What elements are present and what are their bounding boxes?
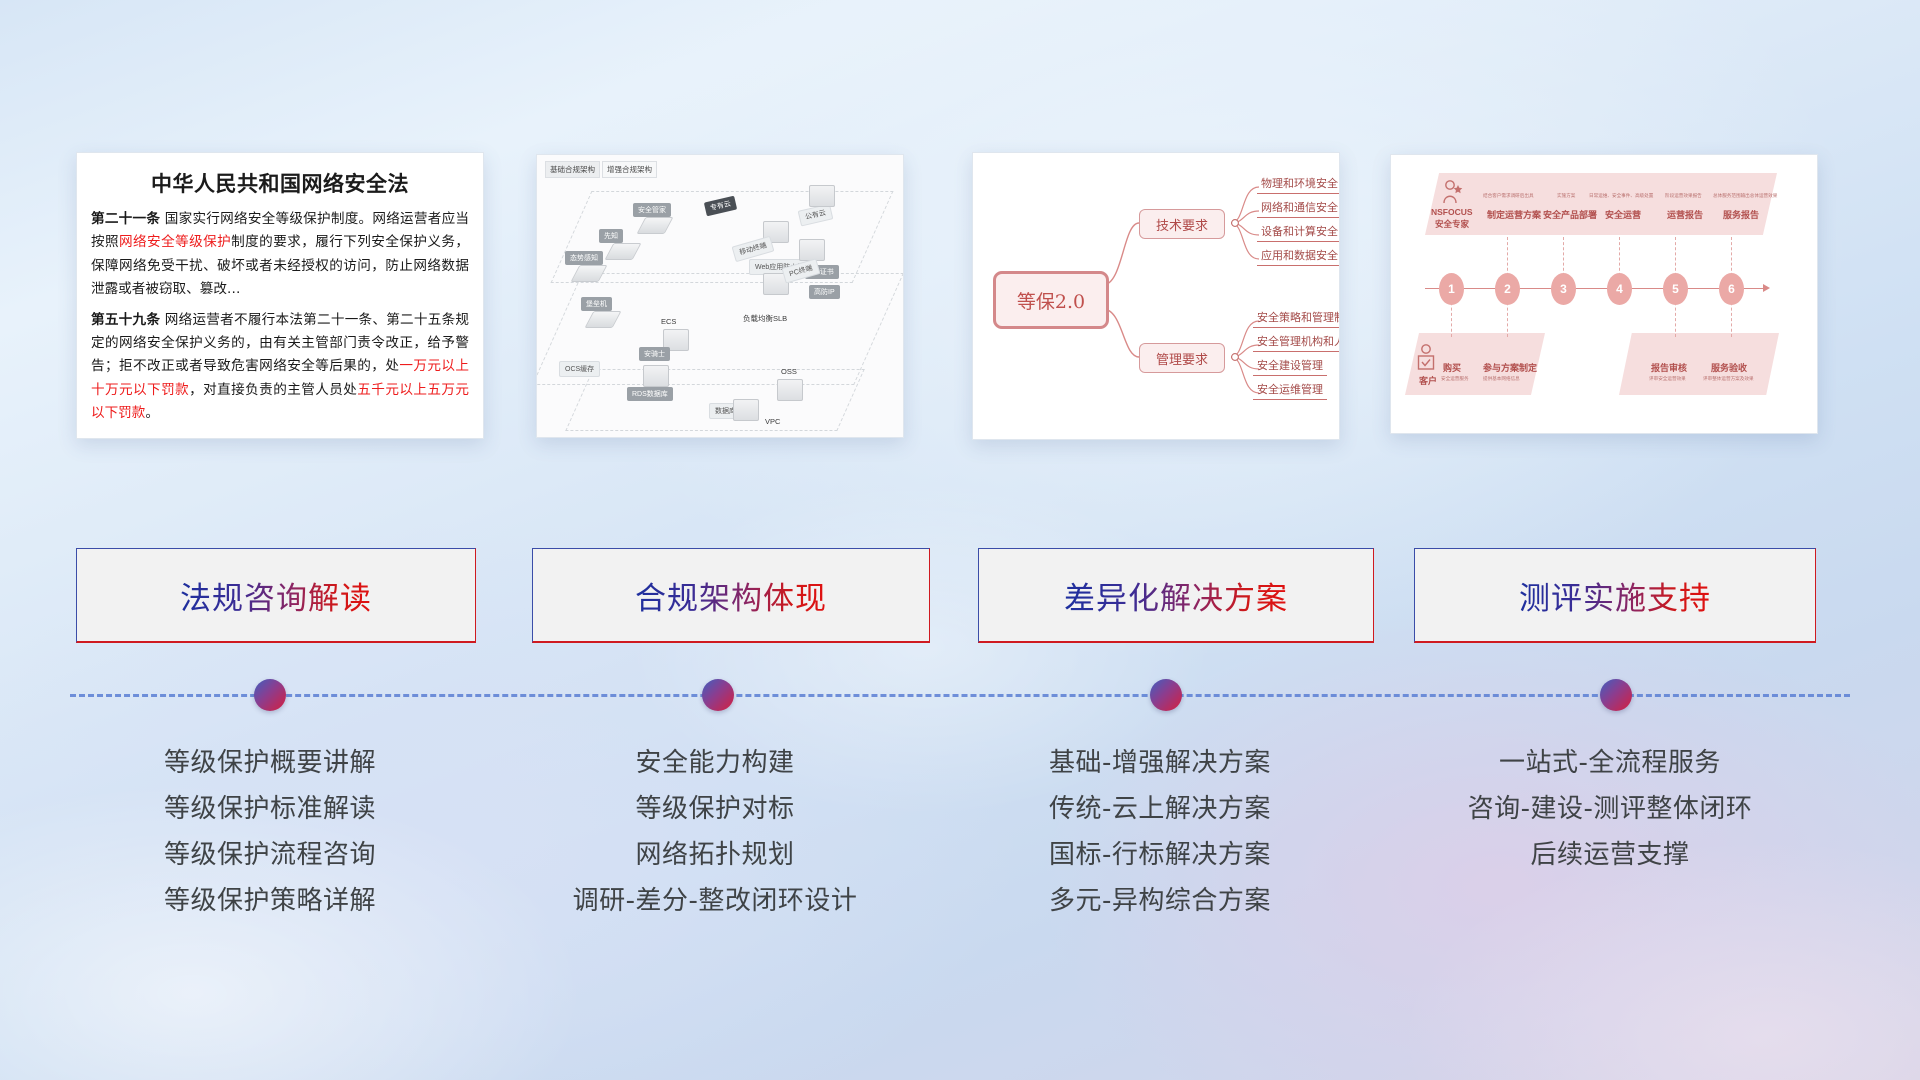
- axis-step-6: 6: [1719, 273, 1744, 305]
- bottom-step-1-desc: 安全运营服务: [1441, 376, 1469, 382]
- bottom-step-1-title: 购买: [1443, 361, 1461, 374]
- node-xianzhi: 先知: [599, 229, 623, 243]
- axis-step-2: 2: [1495, 273, 1520, 305]
- bottom-step-2-desc: 提供基本网络信息: [1483, 376, 1520, 382]
- service-column-2: 安全能力构建 等级保护对标 网络拓扑规划 调研-差分-整改闭环设计: [495, 740, 935, 924]
- bottom-step-5-title: 报告审核: [1651, 361, 1687, 374]
- timeline-arrow-icon: [1763, 284, 1770, 292]
- mindmap-root: 等保2.0: [993, 271, 1109, 329]
- mindmap-leaf-org-personnel: 安全管理机构和人员: [1253, 333, 1340, 352]
- list-item: 等级保护概要讲解: [50, 740, 490, 786]
- article-59-text-3: 。: [145, 405, 159, 421]
- expert-person-icon: [1439, 179, 1465, 205]
- card-cybersecurity-law[interactable]: 中华人民共和国网络安全法 第二十一条 国家实行网络安全等级保护制度。网络运营者应…: [76, 152, 484, 439]
- node-rds: RDS数据库: [627, 387, 673, 401]
- timeline-node-1[interactable]: [254, 679, 286, 711]
- section-title-box-4[interactable]: 测评实施支持: [1414, 548, 1816, 643]
- bottom-step-6-desc: 评审整体运营方案及效果: [1703, 376, 1754, 382]
- mindmap-leaf-operation-mgmt: 安全运维管理: [1253, 381, 1327, 400]
- article-59-text-2: ，对直接负责的主管人员处: [189, 382, 357, 398]
- customer-person-icon: [1415, 343, 1439, 373]
- icon-rds-box: [643, 365, 669, 387]
- architecture-diagram: 基础合规架构 增强合规架构 专有云 公有云 安全管家 先知 态势感知 堡垒机 E…: [537, 155, 903, 437]
- top-step-6-desc: 总体服务范围输出总体运营效果: [1713, 193, 1777, 199]
- list-item: 咨询-建设-测评整体闭环: [1390, 786, 1830, 832]
- mindmap-leaf-physical-env: 物理和环境安全: [1257, 175, 1340, 194]
- section-title-3: 差异化解决方案: [1064, 573, 1288, 618]
- node-slb: 负载均衡SLB: [743, 313, 787, 324]
- top-step-3-title: 安全产品部署: [1543, 208, 1597, 221]
- section-title-4: 测评实施支持: [1519, 573, 1711, 618]
- icon-cloud-server: [809, 185, 835, 207]
- service-column-4: 一站式-全流程服务 咨询-建设-测评整体闭环 后续运营支撑: [1390, 740, 1830, 878]
- icon-pc-terminal: [799, 239, 825, 261]
- node-ocs-cache: OCS缓存: [559, 361, 600, 377]
- top-step-3-desc: 实施方案: [1557, 193, 1575, 199]
- axis-step-5: 5: [1663, 273, 1688, 305]
- top-step-5-desc: 阶段运营效果报告: [1665, 193, 1702, 199]
- article-59-label: 第五十九条: [91, 312, 160, 328]
- service-column-1: 等级保护概要讲解 等级保护标准解读 等级保护流程咨询 等级保护策略详解: [50, 740, 490, 924]
- top-step-4-desc: 日常运维、安全事件、高级处置: [1589, 193, 1653, 199]
- expert-band: [1425, 173, 1777, 235]
- node-vpc: VPC: [765, 417, 780, 426]
- node-bastion-host: 堡垒机: [581, 297, 612, 311]
- node-anqishi: 安骑士: [639, 347, 670, 361]
- list-item: 国标-行标解决方案: [940, 832, 1380, 878]
- list-item: 多元-异构综合方案: [940, 878, 1380, 924]
- timeline-node-4[interactable]: [1600, 679, 1632, 711]
- list-item: 网络拓扑规划: [495, 832, 935, 878]
- mindmap-leaf-device-compute: 设备和计算安全: [1257, 223, 1340, 242]
- article-21-highlight: 网络安全等级保护: [119, 234, 231, 250]
- top-step-2-desc: 结合客户需求调研后出具: [1483, 193, 1534, 199]
- top-step-6-title: 服务报告: [1723, 208, 1759, 221]
- list-item: 基础-增强解决方案: [940, 740, 1380, 786]
- expert-label-line2: 安全专家: [1435, 218, 1469, 230]
- section-title-2: 合规架构体现: [635, 573, 827, 618]
- list-item: 调研-差分-整改闭环设计: [495, 878, 935, 924]
- bottom-step-6-title: 服务验收: [1711, 361, 1747, 374]
- mindmap: 等保2.0 技术要求 物理和环境安全 网络和通信安全 设备和计算安全 应用和数据…: [973, 153, 1339, 439]
- customer-label: 客户: [1419, 374, 1437, 387]
- node-situation-awareness: 态势感知: [565, 251, 603, 265]
- reference-card-row: 中华人民共和国网络安全法 第二十一条 国家实行网络安全等级保护制度。网络运营者应…: [0, 150, 1920, 450]
- timeline-axis: [1425, 288, 1765, 289]
- timeline-dashed-line: [70, 694, 1850, 701]
- mindmap-branch-technical: 技术要求: [1139, 209, 1225, 239]
- node-security-butler: 安全管家: [633, 203, 671, 217]
- icon-oss-box: [777, 379, 803, 401]
- zone-outline-bottom: [565, 369, 865, 431]
- law-article-21: 第二十一条 国家实行网络安全等级保护制度。网络运营者应当按照网络安全等级保护制度…: [91, 208, 469, 302]
- list-item: 安全能力构建: [495, 740, 935, 786]
- list-item: 等级保护策略详解: [50, 878, 490, 924]
- law-article-59: 第五十九条 网络运营者不履行本法第二十一条、第二十五条规定的网络安全保护义务的，…: [91, 309, 469, 426]
- mindmap-leaf-construction-mgmt: 安全建设管理: [1253, 357, 1327, 376]
- timeline-node-2[interactable]: [702, 679, 734, 711]
- bottom-step-2-title: 参与方案制定: [1483, 361, 1537, 374]
- section-title-box-2[interactable]: 合规架构体现: [532, 548, 930, 643]
- service-detail-columns: 等级保护概要讲解 等级保护标准解读 等级保护流程咨询 等级保护策略详解 安全能力…: [0, 740, 1920, 980]
- node-ecs: ECS: [661, 317, 676, 326]
- card-dengbao-mindmap[interactable]: 等保2.0 技术要求 物理和环境安全 网络和通信安全 设备和计算安全 应用和数据…: [972, 152, 1340, 440]
- section-title-box-3[interactable]: 差异化解决方案: [978, 548, 1374, 643]
- article-21-label: 第二十一条: [91, 211, 160, 227]
- law-title: 中华人民共和国网络安全法: [77, 168, 483, 198]
- mindmap-leaf-app-data: 应用和数据安全: [1257, 247, 1340, 266]
- service-column-3: 基础-增强解决方案 传统-云上解决方案 国标-行标解决方案 多元-异构综合方案: [940, 740, 1380, 924]
- section-title-box-1[interactable]: 法规咨询解读: [76, 548, 476, 643]
- axis-step-3: 3: [1551, 273, 1576, 305]
- node-oss: OSS: [781, 367, 797, 376]
- list-item: 等级保护标准解读: [50, 786, 490, 832]
- timeline-node-3[interactable]: [1150, 679, 1182, 711]
- list-item: 后续运营支撑: [1390, 832, 1830, 878]
- tab-basic-architecture[interactable]: 基础合规架构: [545, 161, 600, 178]
- list-item: 等级保护流程咨询: [50, 832, 490, 878]
- section-title-1: 法规咨询解读: [180, 573, 372, 618]
- mindmap-branch-management: 管理要求: [1139, 343, 1225, 373]
- tab-enhanced-architecture[interactable]: 增强合规架构: [602, 161, 657, 178]
- list-item: 一站式-全流程服务: [1390, 740, 1830, 786]
- nsfocus-timeline: NSFOCUS 安全专家 结合客户需求调研后出具 制定运营方案 实施方案 安全产…: [1391, 155, 1817, 433]
- mindmap-leaf-network-comm: 网络和通信安全: [1257, 199, 1340, 218]
- node-anti-ddos: 高防IP: [809, 285, 840, 299]
- axis-step-1: 1: [1439, 273, 1464, 305]
- expert-label-line1: NSFOCUS: [1431, 207, 1473, 217]
- law-body: 第二十一条 国家实行网络安全等级保护制度。网络运营者应当按照网络安全等级保护制度…: [77, 208, 483, 425]
- axis-step-4: 4: [1607, 273, 1632, 305]
- card-compliance-architecture[interactable]: 基础合规架构 增强合规架构 专有云 公有云 安全管家 先知 态势感知 堡垒机 E…: [536, 154, 904, 438]
- list-item: 等级保护对标: [495, 786, 935, 832]
- section-title-row: 法规咨询解读 合规架构体现 差异化解决方案 测评实施支持: [0, 548, 1920, 648]
- top-step-4-title: 安全运营: [1605, 208, 1641, 221]
- list-item: 传统-云上解决方案: [940, 786, 1380, 832]
- customer-band-2: [1619, 333, 1779, 395]
- top-step-2-title: 制定运营方案: [1487, 208, 1541, 221]
- mindmap-leaf-policy-system: 安全策略和管理制度: [1253, 309, 1340, 328]
- icon-vpc-box: [733, 399, 759, 421]
- top-step-5-title: 运营报告: [1667, 208, 1703, 221]
- architecture-tabs[interactable]: 基础合规架构 增强合规架构: [545, 161, 657, 178]
- bottom-step-5-desc: 评审安全运营效果: [1649, 376, 1686, 382]
- card-nsfocus-service-timeline[interactable]: NSFOCUS 安全专家 结合客户需求调研后出具 制定运营方案 实施方案 安全产…: [1390, 154, 1818, 434]
